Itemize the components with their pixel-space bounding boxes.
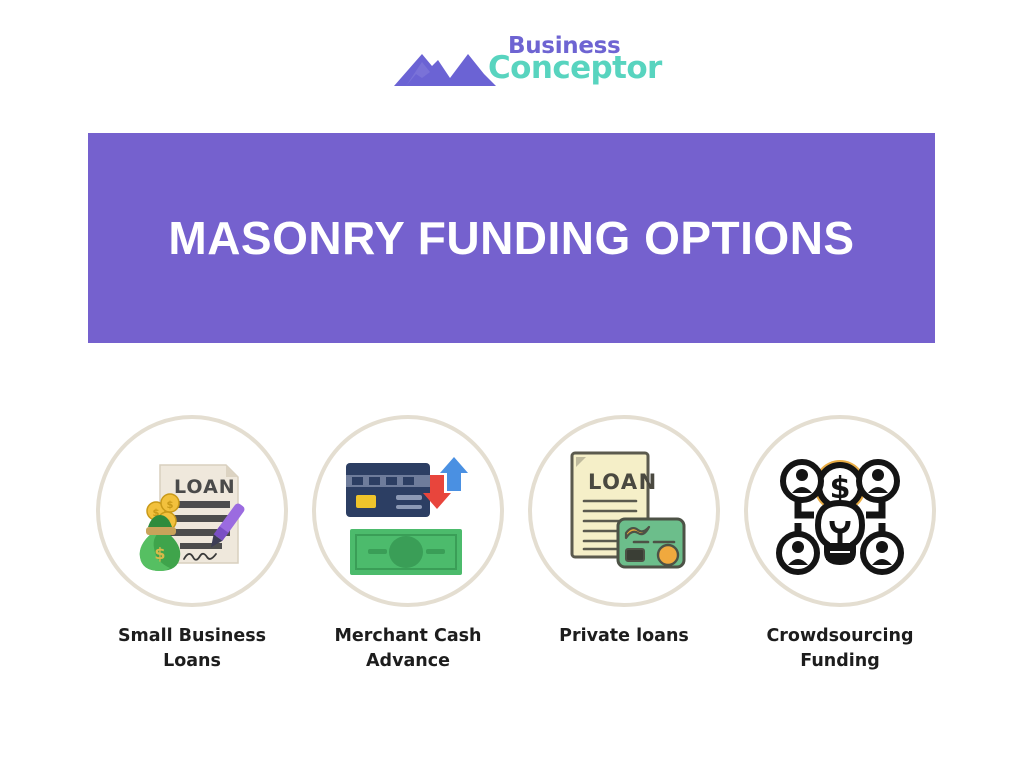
svg-text:$: $ <box>167 500 174 511</box>
svg-text:$: $ <box>154 544 165 563</box>
crowdsourcing-lightbulb-network-icon: $ <box>770 441 910 581</box>
title-banner: MASONRY FUNDING OPTIONS <box>88 133 935 343</box>
svg-text:LOAN: LOAN <box>174 476 236 498</box>
page-title: MASONRY FUNDING OPTIONS <box>168 211 854 265</box>
icon-circle-1: LOAN $ $ $ <box>96 415 288 607</box>
option-label-4: Crowdsourcing Funding <box>755 624 925 675</box>
option-label-3: Private loans <box>559 624 689 649</box>
option-label-2: Merchant Cash Advance <box>323 624 493 675</box>
loan-document-money-bag-icon: LOAN $ $ $ <box>122 441 262 581</box>
brand-logo: Business Conceptor <box>392 34 642 94</box>
icon-circle-4: $ <box>744 415 936 607</box>
icon-circle-2 <box>312 415 504 607</box>
option-label-1: Small Business Loans <box>107 624 277 675</box>
loan-document-card-icon: LOAN <box>554 441 694 581</box>
option-card-crowdsourcing-funding[interactable]: $ <box>736 415 944 675</box>
option-card-small-business-loans[interactable]: LOAN $ $ $ <box>88 415 296 675</box>
logo-wordmark: Business Conceptor <box>488 34 642 94</box>
option-card-merchant-cash-advance[interactable]: Merchant Cash Advance <box>304 415 512 675</box>
funding-options-row: LOAN $ $ $ <box>88 415 944 705</box>
icon-circle-3: LOAN <box>528 415 720 607</box>
credit-card-cash-exchange-icon <box>338 441 478 581</box>
svg-text:LOAN: LOAN <box>588 470 658 494</box>
logo-word-conceptor: Conceptor <box>488 53 662 84</box>
option-card-private-loans[interactable]: LOAN Private loans <box>520 415 728 649</box>
